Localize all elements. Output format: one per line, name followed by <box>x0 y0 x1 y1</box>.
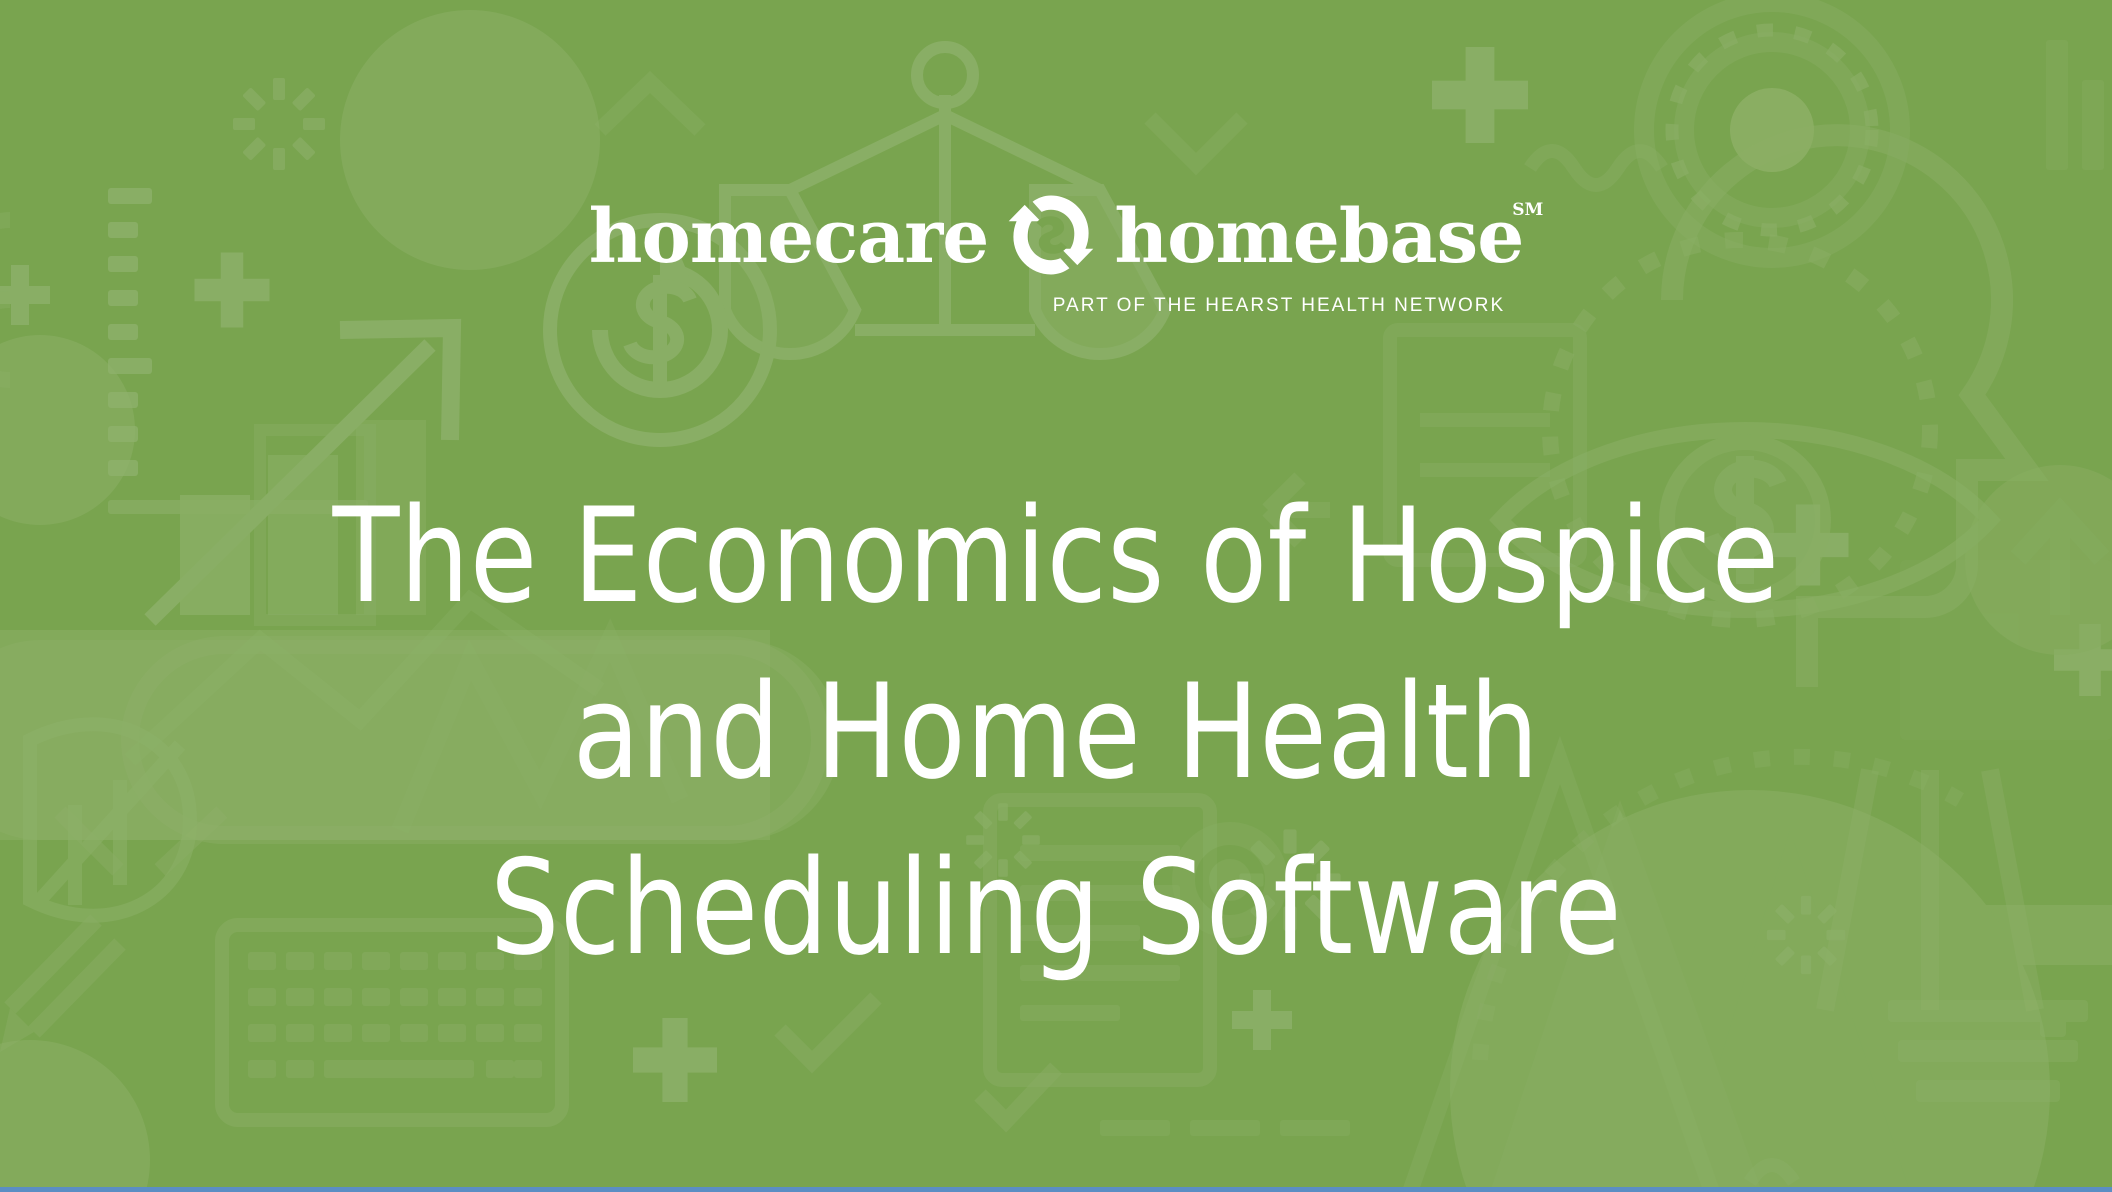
logo-word-homebase-wrap: homebase SM <box>1114 198 1523 272</box>
presentation-slide: homecare homebase SM PART OF THE HEARST … <box>0 0 2112 1192</box>
service-mark-symbol: SM <box>1512 202 1543 219</box>
cycle-arrows-icon <box>1004 188 1098 282</box>
title-line-1: The Economics of Hospice <box>74 468 2038 644</box>
title-line-3: Scheduling Software <box>74 820 2038 996</box>
logo-word-homebase: homebase <box>1114 194 1523 280</box>
logo-word-homecare: homecare <box>589 200 989 274</box>
slide-title: The Economics of Hospice and Home Health… <box>0 468 2112 996</box>
logo-tagline: PART OF THE HEARST HEALTH NETWORK <box>1053 296 1505 315</box>
logo-tagline-row: PART OF THE HEARST HEALTH NETWORK <box>0 296 2112 315</box>
brand-logo: homecare homebase SM PART OF THE HEARST … <box>0 188 2112 315</box>
logo-lockup: homecare homebase SM <box>0 188 2112 282</box>
bottom-accent-rule <box>0 1187 2112 1192</box>
title-line-2: and Home Health <box>74 644 2038 820</box>
